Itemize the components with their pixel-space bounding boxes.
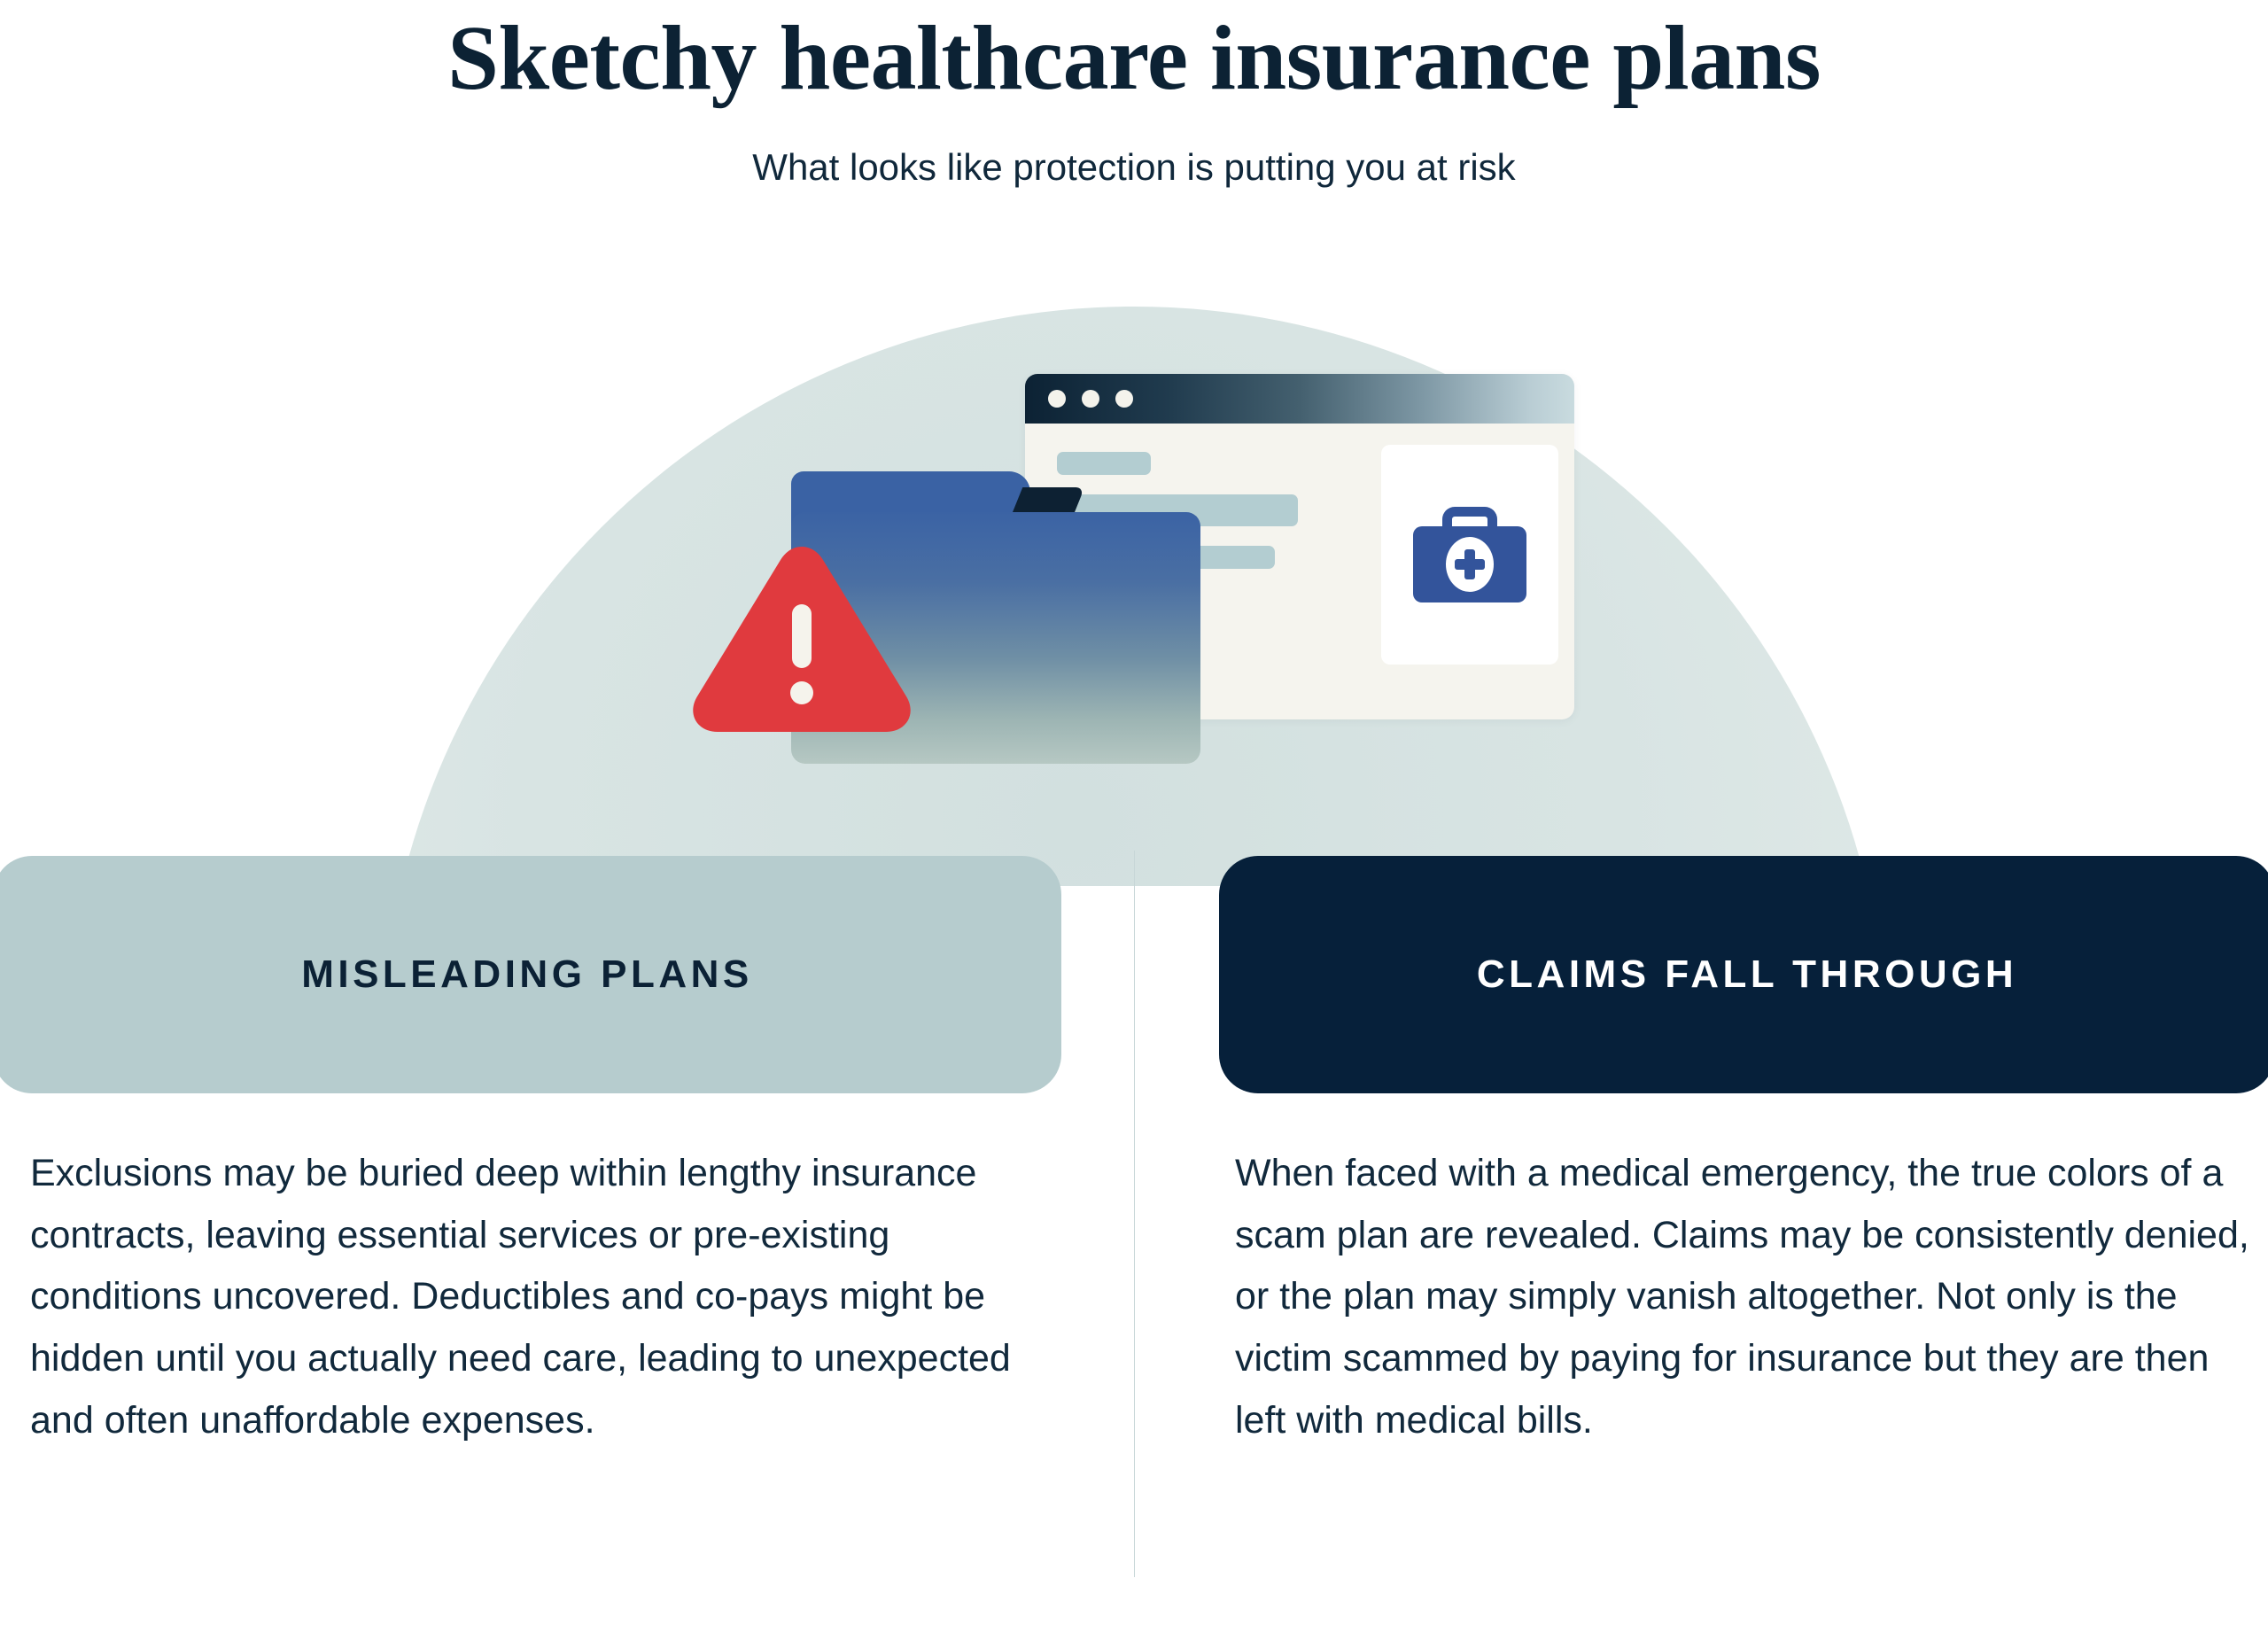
- hero-illustration: [0, 266, 2268, 886]
- card-misleading-plans[interactable]: MISLEADING PLANS: [0, 856, 1061, 1093]
- card-label-misleading-plans: MISLEADING PLANS: [301, 952, 753, 997]
- first-aid-kit-badge: [1446, 537, 1494, 592]
- traffic-light-close-icon: [1048, 390, 1066, 408]
- card-claims-fall-through[interactable]: CLAIMS FALL THROUGH: [1219, 856, 2268, 1093]
- page-subtitle: What looks like protection is putting yo…: [0, 144, 2268, 192]
- page-title: Sketchy healthcare insurance plans: [0, 7, 2268, 110]
- first-aid-kit-body: [1413, 526, 1526, 602]
- warning-triangle-icon: [691, 540, 913, 735]
- traffic-light-maximize-icon: [1115, 390, 1133, 408]
- card-label-claims-fall-through: CLAIMS FALL THROUGH: [1477, 952, 2017, 997]
- first-aid-kit-icon: [1413, 507, 1526, 602]
- traffic-light-minimize-icon: [1082, 390, 1099, 408]
- browser-titlebar: [1025, 374, 1574, 424]
- medical-cross-icon-horizontal: [1455, 559, 1485, 570]
- body-text-claims-fall-through: When faced with a medical emergency, the…: [1235, 1143, 2263, 1451]
- hero-clip: [0, 266, 2268, 886]
- body-text-misleading-plans: Exclusions may be buried deep within len…: [30, 1143, 1058, 1451]
- body-columns: Exclusions may be buried deep within len…: [0, 1143, 2268, 1451]
- medical-kit-card: [1381, 445, 1558, 665]
- page-header: Sketchy healthcare insurance plans What …: [0, 0, 2268, 192]
